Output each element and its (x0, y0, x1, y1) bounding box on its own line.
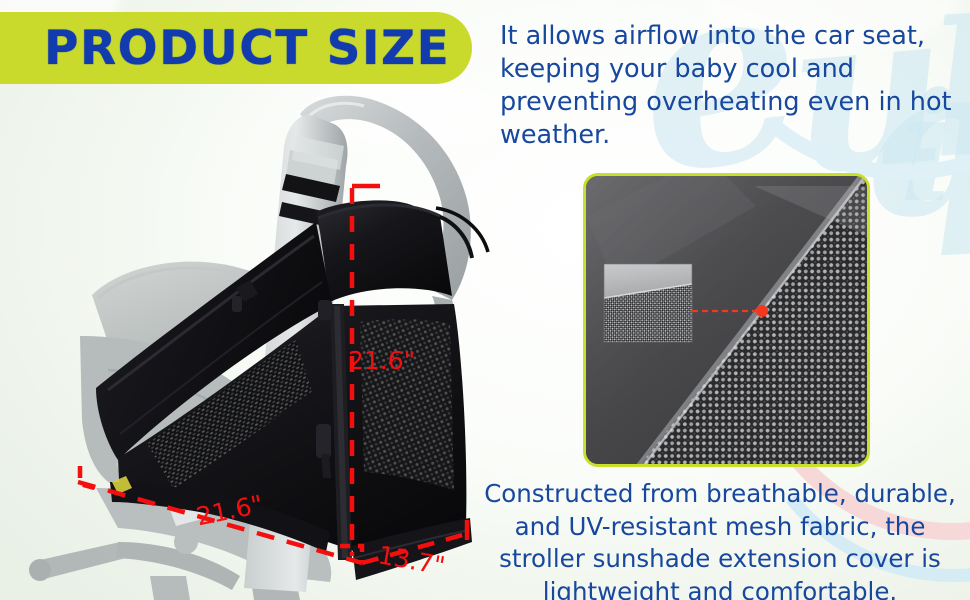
section-title-badge: PRODUCT SIZE (0, 12, 472, 84)
dimension-label-height: 21.6" (348, 348, 415, 373)
feature-description-top: It allows airflow into the car seat, kee… (500, 20, 962, 153)
infographic-canvas: e u q i l PRODUCT SIZE It allows airflow… (0, 0, 970, 600)
feature-description-bottom: Constructed from breathable, durable, an… (476, 478, 964, 600)
page-title: PRODUCT SIZE (44, 25, 450, 72)
mesh-closeup-panel (583, 173, 870, 467)
